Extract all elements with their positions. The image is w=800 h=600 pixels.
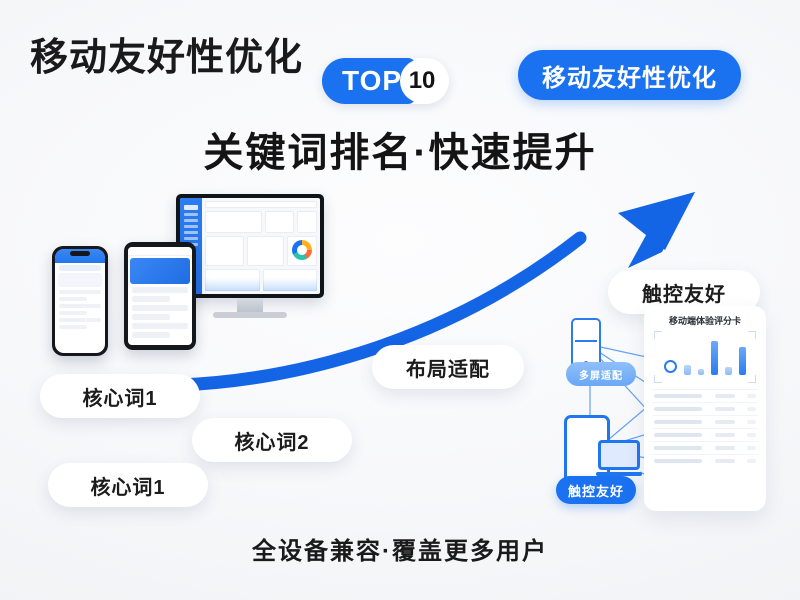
top-rank-badge: TOP 10 [322, 58, 449, 104]
table-row [652, 402, 758, 415]
score-card-chart [654, 331, 756, 383]
device-mockup-group [24, 186, 334, 386]
multi-screen-chip: 多屏适配 [566, 362, 636, 386]
table-row [652, 415, 758, 428]
diagram-laptop-icon [598, 440, 640, 476]
tablet-device-icon [124, 242, 196, 350]
table-row [652, 454, 758, 467]
keyword-pill-3[interactable]: 核心词1 [48, 463, 208, 507]
table-row [652, 428, 758, 441]
keyword-pill-1[interactable]: 核心词1 [40, 374, 200, 418]
page-title: 移动友好性优化 [30, 26, 303, 81]
layout-adaptation-pill[interactable]: 布局适配 [372, 345, 524, 389]
top-badge-rank: 10 [400, 59, 444, 103]
diagram-small-phone-icon [571, 318, 601, 368]
page-subtitle: 关键词排名·快速提升 [0, 120, 800, 178]
header-blue-tag: 移动友好性优化 [518, 50, 741, 100]
table-row [652, 389, 758, 402]
score-card-title: 移动端体验评分卡 [652, 314, 758, 327]
mobile-phone-icon [52, 246, 108, 356]
table-row [652, 441, 758, 454]
poster-canvas: 移动友好性优化 TOP 10 移动友好性优化 关键词排名·快速提升 [0, 0, 800, 600]
donut-chart-icon [292, 240, 312, 260]
chart-pin-icon [664, 360, 677, 373]
desktop-monitor-icon [176, 194, 324, 318]
footer-tagline: 全设备兼容·覆盖更多用户 [0, 531, 800, 566]
touch-friendly-chip: 触控友好 [556, 476, 636, 504]
keyword-pill-2[interactable]: 核心词2 [192, 418, 352, 462]
mobile-experience-score-card: 移动端体验评分卡 [644, 306, 766, 511]
